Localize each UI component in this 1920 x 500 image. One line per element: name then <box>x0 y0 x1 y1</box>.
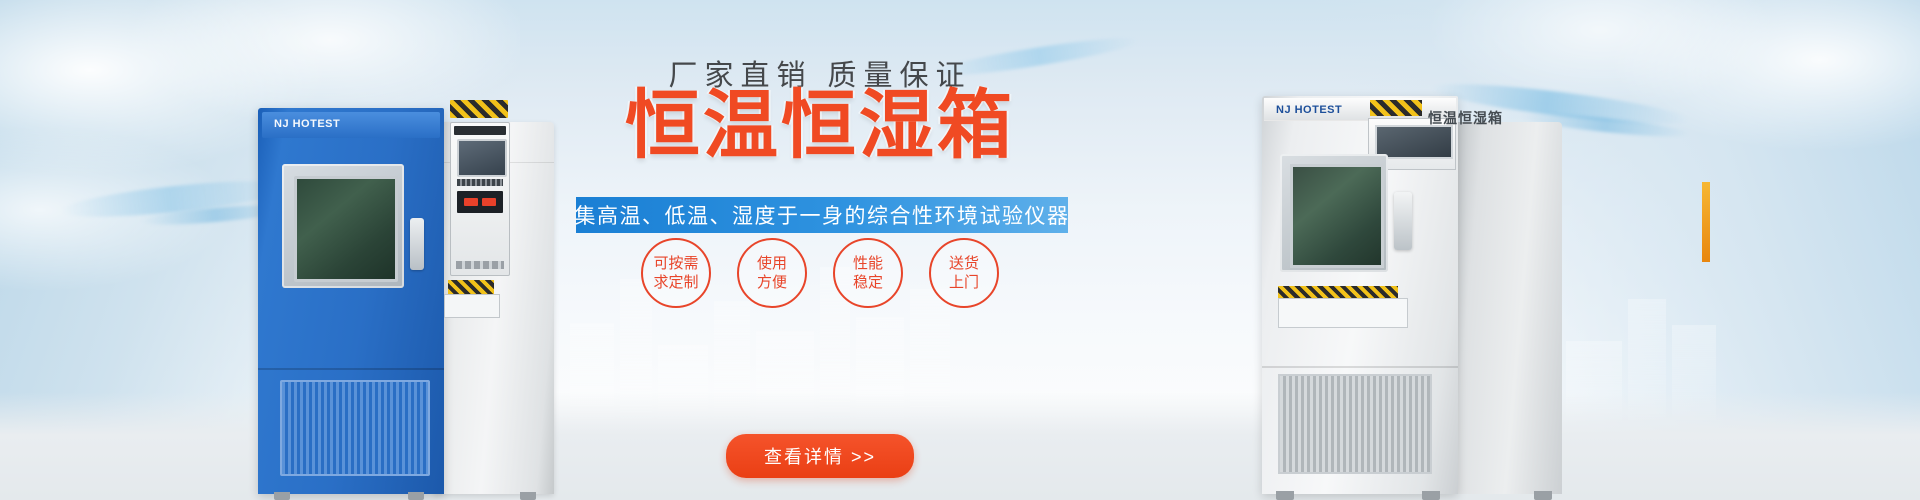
left-machine-display-screen <box>457 139 507 177</box>
badge-line-2: 求定制 <box>653 273 698 292</box>
left-machine-panel-label <box>454 126 506 135</box>
left-machine-door-handle <box>410 218 424 270</box>
banner-copy-block: 厂家直销 质量保证 恒温恒湿箱 集高温、低温、湿度于一身的综合性环境试验仪器 可… <box>560 0 1080 500</box>
right-machine-door-handle <box>1394 192 1412 250</box>
badge-line-1: 性能 <box>853 254 883 273</box>
right-machine-vent-grille <box>1278 374 1432 474</box>
left-machine-control-panel <box>450 122 510 276</box>
right-machine-side-panel <box>1452 122 1562 494</box>
badge-line-2: 方便 <box>757 273 787 292</box>
banner-headline: 恒温恒湿箱 <box>560 86 1080 165</box>
left-machine-spec-sticker <box>444 294 500 318</box>
right-machine-panel-seam <box>1262 366 1458 368</box>
left-machine-hazard-stripe <box>450 100 508 118</box>
right-machine-accent-strip <box>1702 182 1710 262</box>
badge-line-2: 上门 <box>949 273 979 292</box>
left-machine-door-window <box>294 176 398 282</box>
banner-subtitle-text: 集高温、低温、湿度于一身的综合性环境试验仪器 <box>575 200 1070 230</box>
left-machine-switch-row <box>456 261 504 269</box>
left-machine-front: NJ HOTEST <box>258 108 444 494</box>
feature-badge[interactable]: 可按需 求定制 <box>641 238 711 308</box>
badge-line-1: 可按需 <box>653 254 698 273</box>
feature-badge[interactable]: 送货 上门 <box>929 238 999 308</box>
product-image-right: NJ HOTEST 恒温恒湿箱 <box>1262 82 1562 494</box>
right-machine-hazard-stripe <box>1370 100 1422 116</box>
left-machine-digital-readout <box>457 191 503 213</box>
badge-line-1: 送货 <box>949 254 979 273</box>
right-machine-spec-sticker <box>1278 298 1408 328</box>
badge-line-1: 使用 <box>757 254 787 273</box>
feature-badge[interactable]: 性能 稳定 <box>833 238 903 308</box>
feature-badge-list: 可按需 求定制 使用 方便 性能 稳定 送货 上门 <box>560 238 1080 308</box>
right-machine-door-window <box>1290 164 1384 268</box>
feature-badge[interactable]: 使用 方便 <box>737 238 807 308</box>
left-machine-button-strip <box>457 179 503 186</box>
banner-subtitle-bar: 集高温、低温、湿度于一身的综合性环境试验仪器 <box>576 197 1068 233</box>
right-machine-hazard-stripe-lower <box>1278 286 1398 298</box>
left-machine-vent-grille <box>280 380 430 476</box>
left-machine-door <box>282 164 404 288</box>
right-machine-front: NJ HOTEST <box>1262 96 1458 494</box>
badge-line-2: 稳定 <box>853 273 883 292</box>
left-machine-hazard-stripe-lower <box>448 280 494 294</box>
product-image-left: NJ HOTEST <box>258 94 554 494</box>
left-machine-brand: NJ HOTEST <box>274 118 340 130</box>
view-details-button[interactable]: 查看详情 >> <box>726 434 914 478</box>
left-machine-panel-seam <box>258 368 444 370</box>
right-machine-brand: NJ HOTEST <box>1276 104 1342 116</box>
promo-banner: NJ HOTEST NJ HO <box>0 0 1920 500</box>
right-machine-name-plate: 恒温恒湿箱 <box>1428 108 1503 128</box>
right-machine-door <box>1280 154 1388 272</box>
